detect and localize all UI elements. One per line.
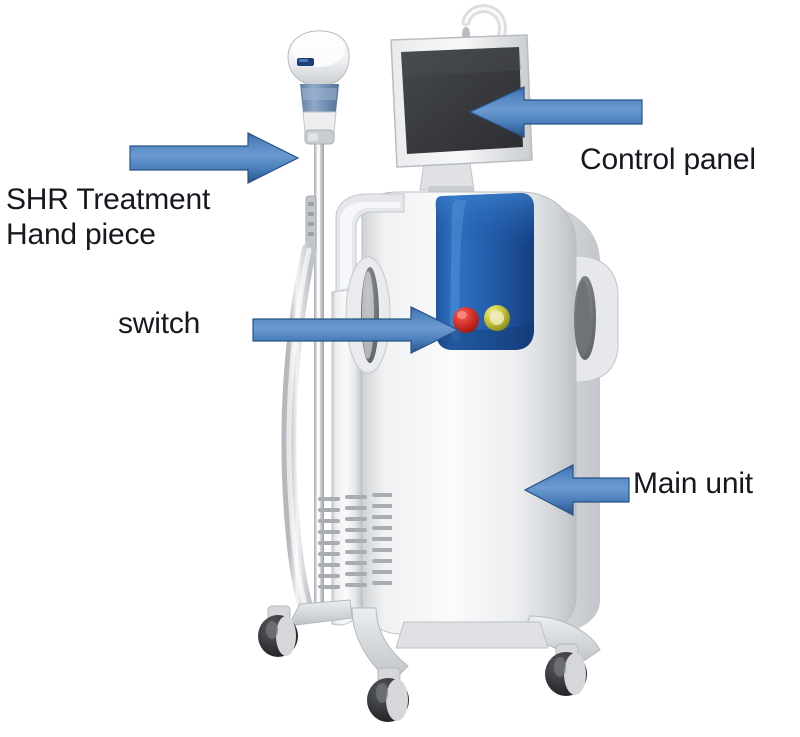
arrow-shr-hand-piece (130, 133, 298, 183)
arrow-switch (253, 307, 458, 353)
handpiece (288, 31, 349, 144)
handle-right (574, 256, 618, 382)
handpiece-cable (289, 250, 309, 612)
machine-body (318, 192, 618, 634)
caster-rear-left (258, 606, 298, 657)
label-shr-hand-piece: SHR Treatment Hand piece (6, 182, 210, 253)
shr-machine-illustration (0, 0, 800, 737)
diagram-canvas: SHR Treatment Hand piece Control panel s… (0, 0, 800, 737)
caster-front-left (367, 668, 409, 722)
arrow-control-panel (470, 87, 642, 137)
arrow-main-unit (525, 465, 629, 515)
label-switch: switch (118, 306, 200, 341)
label-main-unit: Main unit (633, 466, 753, 501)
label-control-panel: Control panel (580, 142, 756, 177)
